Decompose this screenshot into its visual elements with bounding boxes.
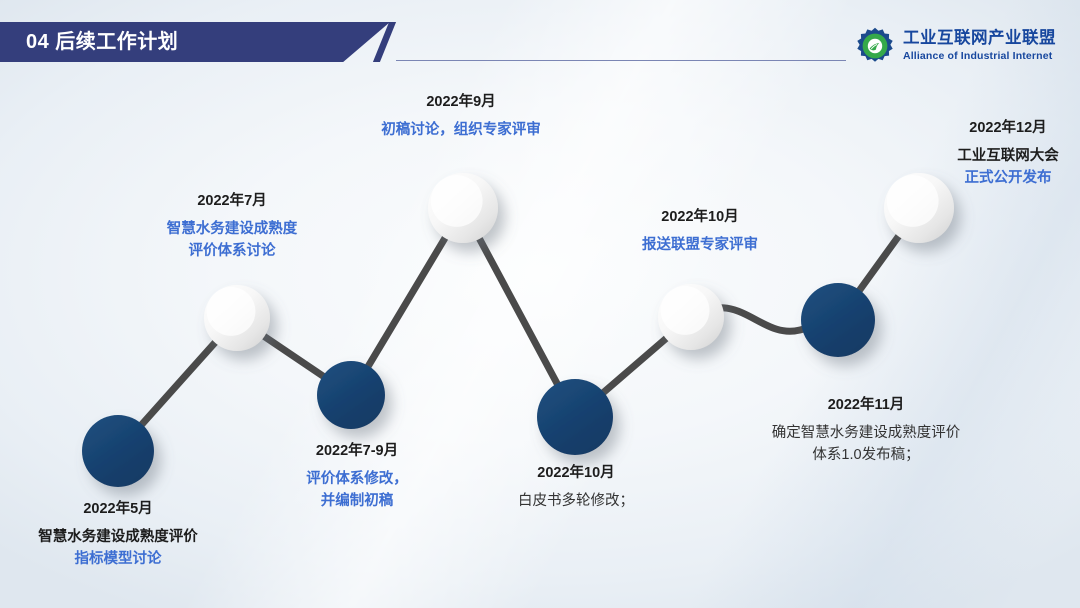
milestone-text-1-2: 指标模型讨论 (38, 548, 198, 570)
timeline-node-8[interactable] (884, 173, 954, 243)
milestone-date-1: 2022年5月 (38, 498, 198, 520)
node-highlight-6 (661, 286, 710, 335)
milestone-text-8-2: 正式公开发布 (957, 167, 1059, 189)
node-marker-7[interactable] (801, 283, 875, 357)
slide-canvas: 04 后续工作计划 工业互联网产业联盟 Alliance of Industri… (0, 0, 1080, 608)
milestone-text-3-2: 并编制初稿 (306, 490, 408, 512)
milestone-date-6: 2022年10月 (642, 206, 758, 228)
milestone-date-4: 2022年9月 (381, 91, 541, 113)
milestone-text-3-1: 评价体系修改， (306, 468, 408, 490)
node-marker-1[interactable] (82, 415, 154, 487)
milestone-date-8: 2022年12月 (957, 117, 1059, 139)
milestone-text-2-2: 评价体系讨论 (167, 240, 298, 262)
timeline-node-7[interactable] (801, 283, 875, 357)
milestone-text-2-1: 智慧水务建设成熟度 (167, 218, 298, 240)
node-marker-5[interactable] (537, 379, 613, 455)
timeline-node-5[interactable] (537, 379, 613, 455)
milestone-date-7: 2022年11月 (772, 394, 961, 416)
milestone-text-7-2: 体系1.0发布稿； (772, 444, 961, 466)
node-highlight-4 (431, 175, 483, 227)
milestone-date-2: 2022年7月 (167, 190, 298, 212)
milestone-text-5-1: 白皮书多轮修改； (518, 490, 634, 512)
milestone-text-7-1: 确定智慧水务建设成熟度评价 (772, 422, 961, 444)
timeline-node-4[interactable] (428, 173, 498, 243)
timeline-node-1[interactable] (82, 415, 154, 487)
milestone-text-4-1: 初稿讨论，组织专家评审 (381, 119, 541, 141)
milestone-text-1-1: 智慧水务建设成熟度评价 (38, 526, 198, 548)
timeline-node-6[interactable] (658, 284, 724, 350)
milestone-text-8-1: 工业互联网大会 (957, 145, 1059, 167)
milestone-date-5: 2022年10月 (518, 462, 634, 484)
node-highlight-2 (207, 287, 256, 336)
milestone-text-6-1: 报送联盟专家评审 (642, 234, 758, 256)
node-marker-3[interactable] (317, 361, 385, 429)
timeline-node-2[interactable] (204, 285, 270, 351)
timeline-node-3[interactable] (317, 361, 385, 429)
node-highlight-8 (887, 175, 939, 227)
milestone-date-3: 2022年7-9月 (306, 440, 408, 462)
